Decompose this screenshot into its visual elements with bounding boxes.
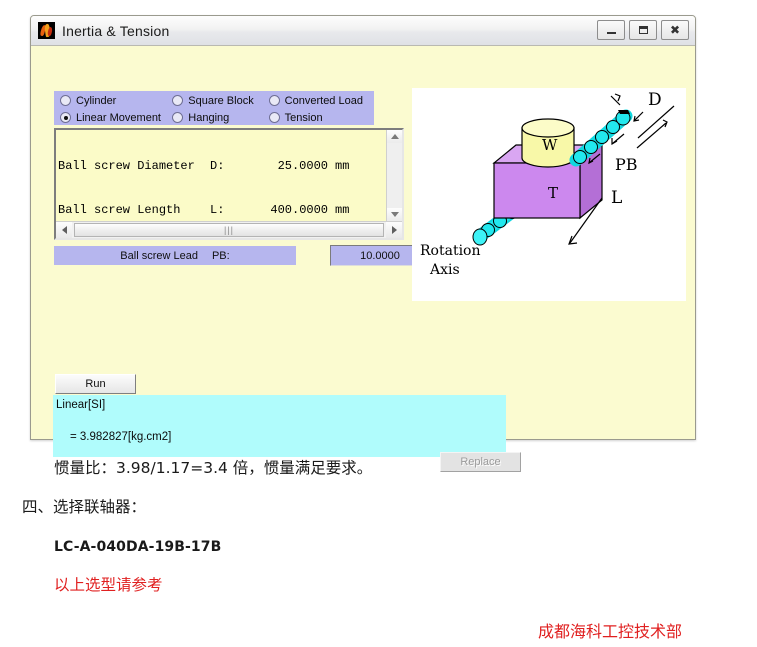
- radio-label-linear-movement: Linear Movement: [76, 112, 161, 124]
- radio-dot-tension[interactable]: [269, 112, 280, 123]
- label-L: L: [611, 188, 622, 208]
- radio-label-cylinder: Cylinder: [76, 95, 116, 107]
- radio-dot-hanging[interactable]: [172, 112, 183, 123]
- param-name: Ball screw Diameter: [58, 159, 210, 174]
- maximize-button[interactable]: [629, 20, 657, 40]
- result-output-box: Linear[SI] = 3.982827[kg.cm2]: [53, 395, 506, 457]
- window-controls: ✖: [597, 20, 689, 40]
- chevron-down-icon: [391, 212, 399, 217]
- matlab-icon: [38, 22, 55, 39]
- parameter-list-main: Ball screw Diameter D: 25.0000 mm Ball s…: [56, 130, 402, 221]
- param-value: 400.0000: [256, 203, 328, 218]
- coupling-model: LC-A-040DA-19B-17B: [54, 539, 221, 555]
- radio-dot-cylinder[interactable]: [60, 95, 71, 106]
- chevron-left-icon: [62, 226, 67, 234]
- radio-label-hanging: Hanging: [188, 112, 229, 124]
- label-D: D: [648, 90, 662, 110]
- company-footer: 成都海科工控技术部: [538, 618, 682, 642]
- section-heading: 四、选择联轴器：: [22, 495, 146, 517]
- chevron-up-icon: [391, 134, 399, 139]
- label-rotation-axis-line1: Rotation: [420, 243, 481, 259]
- inertia-tension-window: Inertia & Tension ✖ Cylinder: [30, 15, 696, 440]
- radio-cylinder[interactable]: Cylinder: [55, 95, 172, 107]
- table-row[interactable]: Ball screw Length L: 400.0000 mm: [58, 203, 386, 218]
- scroll-left-button[interactable]: [56, 222, 72, 238]
- close-icon: ✖: [670, 24, 680, 36]
- radio-row-2: Linear Movement Hanging Tension: [55, 109, 373, 126]
- load-type-radio-panel: Cylinder Square Block Converted Load Lin…: [54, 91, 374, 125]
- radio-label-converted-load: Converted Load: [285, 95, 363, 107]
- minimize-icon: [607, 32, 616, 34]
- selected-parameter-name: Ball screw Lead: [120, 250, 198, 262]
- selected-parameter-label: Ball screw Lead PB:: [54, 246, 296, 265]
- radio-converted-load[interactable]: Converted Load: [269, 95, 373, 107]
- param-value: 25.0000: [256, 159, 328, 174]
- minimize-button[interactable]: [597, 20, 625, 40]
- run-button[interactable]: Run: [55, 374, 136, 394]
- diagram-svg: W D: [412, 88, 686, 301]
- parameter-listbox[interactable]: Ball screw Diameter D: 25.0000 mm Ball s…: [54, 128, 404, 240]
- window-title: Inertia & Tension: [62, 23, 169, 39]
- param-name: Ball screw Length: [58, 203, 210, 218]
- radio-linear-movement[interactable]: Linear Movement: [55, 112, 172, 124]
- inertia-ratio-line: 惯量比：3.98/1.17=3.4 倍，惯量满足要求。: [54, 456, 372, 478]
- label-rotation-axis-line2: Axis: [429, 262, 460, 278]
- param-symbol: D:: [210, 159, 256, 174]
- table-row[interactable]: Ball screw Diameter D: 25.0000 mm: [58, 159, 386, 174]
- horizontal-scroll-thumb[interactable]: |||: [74, 223, 384, 237]
- radio-dot-square-block[interactable]: [172, 95, 183, 106]
- param-unit: mm: [328, 159, 349, 174]
- radio-dot-linear-movement[interactable]: [60, 112, 71, 123]
- radio-hanging[interactable]: Hanging: [172, 112, 268, 124]
- scroll-up-button[interactable]: [387, 130, 402, 143]
- window-titlebar[interactable]: Inertia & Tension ✖: [31, 16, 695, 46]
- label-PB: PB: [615, 155, 638, 174]
- chevron-right-icon: [392, 226, 397, 234]
- radio-label-square-block: Square Block: [188, 95, 253, 107]
- label-W: W: [542, 136, 558, 154]
- radio-label-tension: Tension: [285, 112, 323, 124]
- param-unit: mm: [328, 203, 349, 218]
- radio-dot-converted-load[interactable]: [269, 95, 280, 106]
- result-value: = 3.982827[kg.cm2]: [56, 430, 506, 445]
- window-client-area: Cylinder Square Block Converted Load Lin…: [31, 46, 695, 439]
- selected-parameter-symbol: PB:: [212, 250, 230, 262]
- label-T: T: [548, 184, 558, 202]
- listbox-vertical-scrollbar[interactable]: [386, 130, 402, 221]
- scroll-right-button[interactable]: [386, 222, 402, 238]
- parameter-list-rows[interactable]: Ball screw Diameter D: 25.0000 mm Ball s…: [56, 130, 386, 221]
- selection-note: 以上选型请参考: [54, 573, 163, 595]
- maximize-icon: [639, 26, 648, 34]
- result-mode: Linear[SI]: [56, 398, 506, 413]
- replace-button[interactable]: Replace: [440, 452, 521, 472]
- param-symbol: L:: [210, 203, 256, 218]
- radio-tension[interactable]: Tension: [269, 112, 373, 124]
- listbox-horizontal-scrollbar[interactable]: |||: [56, 221, 402, 238]
- radio-row-1: Cylinder Square Block Converted Load: [55, 92, 373, 109]
- selected-parameter-value: 10.0000: [360, 250, 400, 262]
- scroll-down-button[interactable]: [387, 208, 402, 221]
- close-button[interactable]: ✖: [661, 20, 689, 40]
- ball-screw-diagram: W D: [412, 88, 686, 301]
- radio-square-block[interactable]: Square Block: [172, 95, 268, 107]
